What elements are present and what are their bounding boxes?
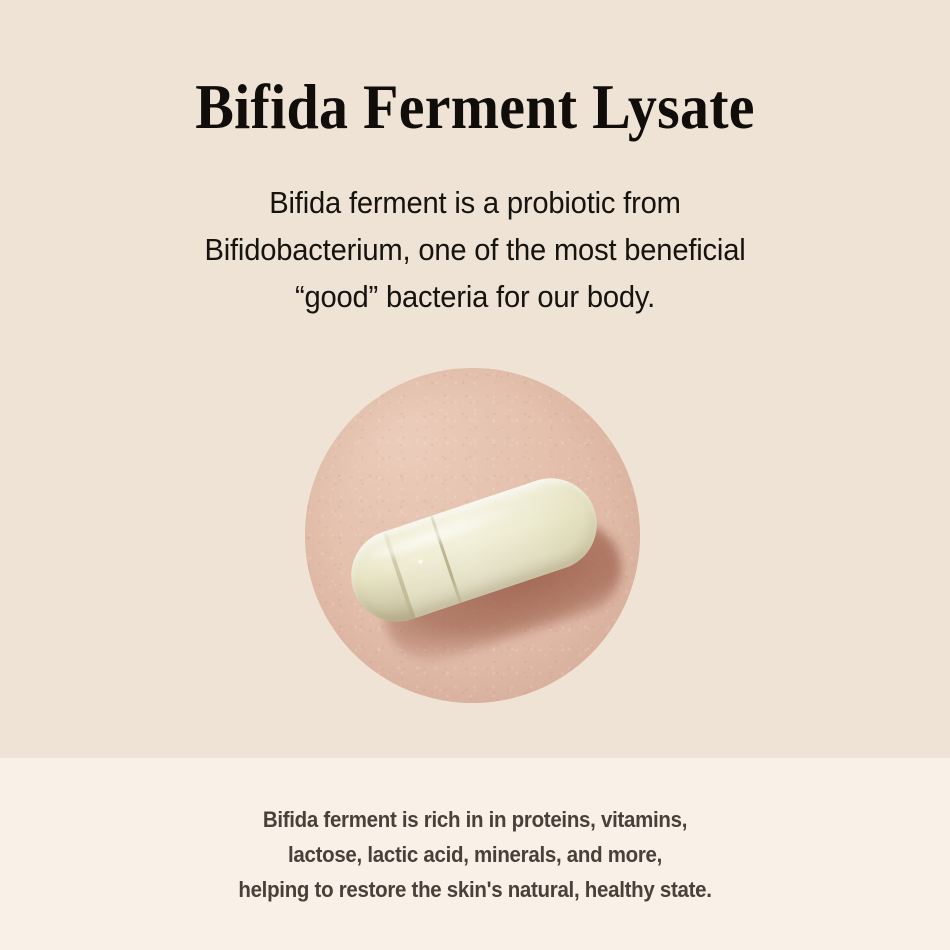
intro-line-2: Bifidobacterium, one of the most benefic… [204, 232, 745, 267]
intro-paragraph: Bifida ferment is a probiotic from Bifid… [29, 179, 922, 320]
benefits-line-1: Bifida ferment is rich in in proteins, v… [263, 807, 687, 832]
intro-line-1: Bifida ferment is a probiotic from [269, 185, 680, 220]
intro-line-3: “good” bacteria for our body. [295, 279, 655, 314]
hero-section: Bifida Ferment Lysate Bifida ferment is … [0, 0, 950, 758]
product-info-card: Bifida Ferment Lysate Bifida ferment is … [0, 0, 950, 950]
capsule-photo [305, 368, 640, 703]
benefits-section: Bifida ferment is rich in in proteins, v… [0, 758, 950, 950]
benefits-line-2: lactose, lactic acid, minerals, and more… [288, 842, 662, 867]
photo-vignette [305, 368, 640, 703]
benefits-line-3: helping to restore the skin's natural, h… [238, 877, 711, 902]
benefits-paragraph: Bifida ferment is rich in in proteins, v… [33, 802, 917, 907]
page-title: Bifida Ferment Lysate [38, 74, 912, 140]
